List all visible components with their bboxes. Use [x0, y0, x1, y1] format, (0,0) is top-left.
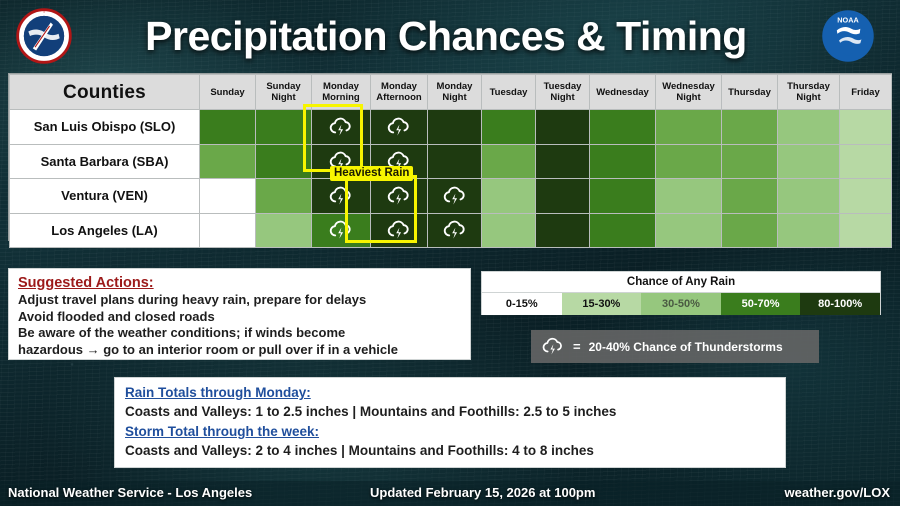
column-header-wednesday-night: WednesdayNight	[656, 75, 722, 110]
footer-office: National Weather Service - Los Angeles	[8, 485, 252, 500]
legend-bucket: 30-50%	[641, 293, 721, 315]
legend-bucket: 15-30%	[562, 293, 642, 315]
forecast-cell	[590, 179, 656, 214]
header-banner: • Precipitation Chances & Timing NOAA	[0, 0, 900, 70]
column-header-friday: Friday	[840, 75, 892, 110]
rain-totals-monday-heading: Rain Totals through Monday:	[125, 383, 775, 402]
thunderstorm-icon	[328, 116, 354, 138]
suggested-actions-heading: Suggested Actions:	[18, 275, 461, 292]
forecast-cell	[778, 110, 840, 145]
forecast-cell	[656, 213, 722, 248]
table-row: Ventura (VEN)	[10, 179, 892, 214]
legend-bucket: 0-15%	[482, 293, 562, 315]
forecast-cell	[536, 144, 590, 179]
forecast-cell	[428, 213, 482, 248]
thunderstorm-icon	[386, 116, 412, 138]
legend-title: Chance of Any Rain	[482, 272, 880, 292]
table-row: Santa Barbara (SBA)	[10, 144, 892, 179]
column-header-sunday-night: SundayNight	[256, 75, 312, 110]
column-header-monday-afternoon: MondayAfternoon	[371, 75, 428, 110]
thunderstorm-icon	[442, 219, 468, 241]
equals-sign: =	[573, 339, 581, 354]
rain-totals-box: Rain Totals through Monday: Coasts and V…	[114, 377, 786, 468]
storm-total-week-heading: Storm Total through the week:	[125, 422, 775, 441]
forecast-cell	[536, 213, 590, 248]
rain-chance-legend: Chance of Any Rain 0-15%15-30%30-50%50-7…	[481, 271, 881, 315]
forecast-cell	[590, 213, 656, 248]
footer-updated: Updated February 15, 2026 at 100pm	[370, 485, 595, 500]
footer-bar: National Weather Service - Los Angeles U…	[0, 481, 900, 506]
heaviest-rain-label: Heaviest Rain	[330, 166, 413, 181]
forecast-cell	[778, 179, 840, 214]
thunderstorm-icon	[386, 219, 412, 241]
suggested-action-line: Avoid flooded and closed roads	[18, 309, 461, 326]
column-header-tuesday-night: TuesdayNight	[536, 75, 590, 110]
forecast-cell	[722, 179, 778, 214]
forecast-cell	[656, 110, 722, 145]
forecast-cell	[722, 110, 778, 145]
table-header-row: CountiesSundaySundayNightMondayMorningMo…	[10, 75, 892, 110]
forecast-cell	[482, 110, 536, 145]
forecast-cell	[312, 110, 371, 145]
precipitation-timing-table: CountiesSundaySundayNightMondayMorningMo…	[8, 73, 892, 241]
forecast-cell	[200, 144, 256, 179]
forecast-cell	[256, 144, 312, 179]
suggested-actions-box: Suggested Actions: Adjust travel plans d…	[8, 268, 471, 360]
forecast-cell	[840, 213, 892, 248]
table-row: San Luis Obispo (SLO)	[10, 110, 892, 145]
page-title: Precipitation Chances & Timing	[96, 6, 796, 66]
forecast-cell	[840, 144, 892, 179]
forecast-cell	[428, 144, 482, 179]
suggested-action-line: Adjust travel plans during heavy rain, p…	[18, 292, 461, 309]
forecast-cell	[840, 110, 892, 145]
rain-totals-monday-text: Coasts and Valleys: 1 to 2.5 inches | Mo…	[125, 402, 775, 422]
forecast-grid: CountiesSundaySundayNightMondayMorningMo…	[9, 74, 892, 248]
forecast-cell	[256, 179, 312, 214]
svg-text:NOAA: NOAA	[837, 16, 859, 25]
forecast-cell	[200, 213, 256, 248]
thunderstorm-icon	[541, 336, 565, 357]
forecast-cell	[778, 213, 840, 248]
county-name-cell: Santa Barbara (SBA)	[10, 144, 200, 179]
nws-logo-icon: •	[14, 8, 74, 64]
table-body: San Luis Obispo (SLO)Santa Barbara (SBA)…	[10, 110, 892, 248]
forecast-cell	[482, 144, 536, 179]
forecast-cell	[371, 213, 428, 248]
legend-buckets: 0-15%15-30%30-50%50-70%80-100%	[482, 292, 880, 315]
forecast-cell	[428, 110, 482, 145]
forecast-cell	[590, 144, 656, 179]
thunderstorm-icon	[386, 185, 412, 207]
forecast-cell	[200, 179, 256, 214]
thunderstorm-icon	[442, 185, 468, 207]
county-name-cell: San Luis Obispo (SLO)	[10, 110, 200, 145]
legend-bucket: 80-100%	[800, 293, 880, 315]
forecast-cell	[722, 144, 778, 179]
suggested-action-line: hazardous → go to an interior room or pu…	[18, 342, 461, 359]
forecast-cell	[778, 144, 840, 179]
forecast-cell	[371, 110, 428, 145]
storm-total-week-text: Coasts and Valleys: 2 to 4 inches | Moun…	[125, 441, 775, 461]
forecast-cell	[482, 179, 536, 214]
suggested-action-line: Be aware of the weather conditions; if w…	[18, 325, 461, 342]
forecast-cell	[200, 110, 256, 145]
column-header-monday-night: MondayNight	[428, 75, 482, 110]
noaa-logo-icon: NOAA	[820, 8, 876, 64]
forecast-cell	[312, 213, 371, 248]
forecast-cell	[656, 144, 722, 179]
column-header-thursday-night: ThursdayNight	[778, 75, 840, 110]
column-header-counties: Counties	[10, 75, 200, 110]
forecast-cell	[722, 213, 778, 248]
column-header-thursday: Thursday	[722, 75, 778, 110]
legend-bucket: 50-70%	[721, 293, 801, 315]
forecast-cell	[840, 179, 892, 214]
county-name-cell: Ventura (VEN)	[10, 179, 200, 214]
forecast-cell	[536, 110, 590, 145]
column-header-sunday: Sunday	[200, 75, 256, 110]
thunderstorm-note-text: 20-40% Chance of Thunderstorms	[589, 340, 783, 354]
forecast-cell	[482, 213, 536, 248]
forecast-cell	[656, 179, 722, 214]
column-header-tuesday: Tuesday	[482, 75, 536, 110]
forecast-cell	[256, 213, 312, 248]
thunderstorm-icon	[328, 219, 354, 241]
table-row: Los Angeles (LA)	[10, 213, 892, 248]
forecast-cell	[428, 179, 482, 214]
forecast-cell	[590, 110, 656, 145]
county-name-cell: Los Angeles (LA)	[10, 213, 200, 248]
forecast-cell	[536, 179, 590, 214]
thunderstorm-note: = 20-40% Chance of Thunderstorms	[531, 330, 819, 363]
forecast-cell	[256, 110, 312, 145]
forecast-cell	[312, 179, 371, 214]
forecast-cell	[371, 179, 428, 214]
column-header-monday-morning: MondayMorning	[312, 75, 371, 110]
column-header-wednesday: Wednesday	[590, 75, 656, 110]
footer-website[interactable]: weather.gov/LOX	[785, 485, 890, 500]
thunderstorm-icon	[328, 185, 354, 207]
